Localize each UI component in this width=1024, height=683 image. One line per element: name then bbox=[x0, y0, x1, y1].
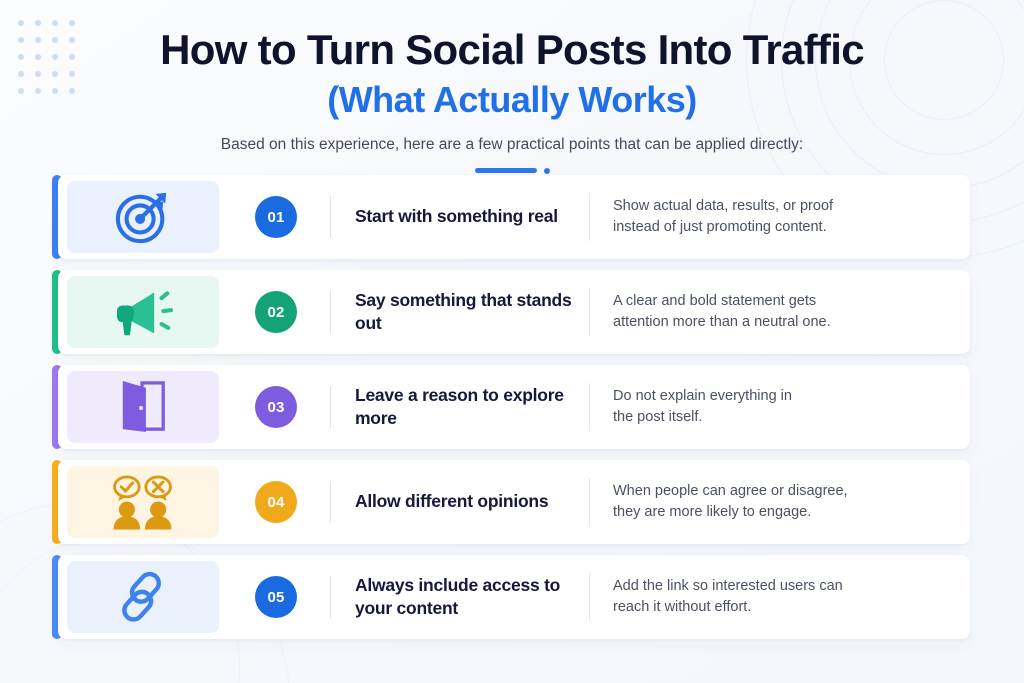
heading-divider bbox=[589, 288, 590, 336]
tip-heading-line-1: Start with bbox=[355, 206, 432, 226]
divider-bar bbox=[475, 168, 537, 173]
tip-heading-line-2: opinions bbox=[477, 491, 548, 511]
tip-description-line-2: attention more than a neutral one. bbox=[613, 312, 970, 333]
tip-description-line-2: the post itself. bbox=[613, 407, 970, 428]
icon-tile bbox=[67, 276, 219, 348]
tip-heading-line-1: Leave a reason to bbox=[355, 385, 499, 405]
tip-heading: Always include access to your content bbox=[355, 574, 583, 620]
tip-description-line-2: they are more likely to engage. bbox=[613, 502, 970, 523]
step-number: 04 bbox=[267, 494, 284, 511]
step-number: 02 bbox=[267, 304, 284, 321]
icon-tile bbox=[67, 181, 219, 253]
tips-list: 01 Start with something real Show actual… bbox=[52, 175, 970, 650]
open-door-icon bbox=[117, 379, 169, 435]
step-badge: 01 bbox=[255, 196, 297, 238]
tip-description: When people can agree or disagree, they … bbox=[613, 481, 970, 524]
page-title-line-2: (What Actually Works) bbox=[0, 81, 1024, 119]
megaphone-icon bbox=[111, 285, 175, 339]
step-number: 01 bbox=[267, 209, 284, 226]
list-item[interactable]: 01 Start with something real Show actual… bbox=[52, 175, 970, 259]
badge-divider bbox=[330, 576, 331, 618]
badge-divider bbox=[330, 481, 331, 523]
step-badge: 02 bbox=[255, 291, 297, 333]
badge-divider bbox=[330, 196, 331, 238]
icon-tile bbox=[67, 371, 219, 443]
divider-dot bbox=[544, 168, 550, 174]
tip-description: Do not explain everything in the post it… bbox=[613, 386, 970, 429]
badge-divider bbox=[330, 291, 331, 333]
tip-heading-line-1: Allow different bbox=[355, 491, 473, 511]
list-item[interactable]: 03 Leave a reason to explore more Do not… bbox=[52, 365, 970, 449]
tip-description-line-2: instead of just promoting content. bbox=[613, 217, 970, 238]
tip-card[interactable]: 01 Start with something real Show actual… bbox=[58, 175, 970, 259]
tip-description: Add the link so interested users can rea… bbox=[613, 576, 970, 619]
list-item[interactable]: 05 Always include access to your content… bbox=[52, 555, 970, 639]
link-chain-icon bbox=[115, 571, 171, 623]
badge-divider bbox=[330, 386, 331, 428]
icon-tile bbox=[67, 466, 219, 538]
page-title-line-1: How to Turn Social Posts Into Traffic bbox=[0, 28, 1024, 72]
tip-heading-line-1: Always include access bbox=[355, 575, 539, 595]
tip-description-line-1: When people can agree or disagree, bbox=[613, 481, 970, 502]
tip-card[interactable]: 04 Allow different opinions When people … bbox=[58, 460, 970, 544]
icon-tile bbox=[67, 561, 219, 633]
step-badge: 05 bbox=[255, 576, 297, 618]
step-number: 05 bbox=[267, 589, 284, 606]
tip-description-line-1: A clear and bold statement gets bbox=[613, 291, 970, 312]
tip-heading-line-2: something real bbox=[437, 206, 558, 226]
tip-description-line-1: Do not explain everything in bbox=[613, 386, 970, 407]
heading-divider bbox=[589, 193, 590, 241]
list-item[interactable]: 04 Allow different opinions When people … bbox=[52, 460, 970, 544]
tip-heading: Say something that stands out bbox=[355, 289, 583, 335]
step-badge: 04 bbox=[255, 481, 297, 523]
tip-description-line-2: reach it without effort. bbox=[613, 597, 970, 618]
step-number: 03 bbox=[267, 399, 284, 416]
header: How to Turn Social Posts Into Traffic (W… bbox=[0, 0, 1024, 174]
title-divider bbox=[0, 168, 1024, 174]
list-item[interactable]: 02 Say something that stands out A clear… bbox=[52, 270, 970, 354]
tip-description: Show actual data, results, or proof inst… bbox=[613, 196, 970, 239]
tip-description-line-1: Add the link so interested users can bbox=[613, 576, 970, 597]
tip-description: A clear and bold statement gets attentio… bbox=[613, 291, 970, 334]
infographic-page: How to Turn Social Posts Into Traffic (W… bbox=[0, 0, 1024, 683]
heading-divider bbox=[589, 573, 590, 621]
step-badge: 03 bbox=[255, 386, 297, 428]
tip-heading: Start with something real bbox=[355, 205, 583, 228]
tip-heading-line-1: Say something bbox=[355, 290, 476, 310]
heading-divider bbox=[589, 478, 590, 526]
tip-card[interactable]: 02 Say something that stands out A clear… bbox=[58, 270, 970, 354]
tip-description-line-1: Show actual data, results, or proof bbox=[613, 196, 970, 217]
target-icon bbox=[112, 189, 174, 245]
tip-heading: Allow different opinions bbox=[355, 490, 583, 513]
tip-card[interactable]: 05 Always include access to your content… bbox=[58, 555, 970, 639]
heading-divider bbox=[589, 383, 590, 431]
page-subtitle: Based on this experience, here are a few… bbox=[0, 136, 1024, 154]
two-people-opinions-icon bbox=[107, 474, 179, 530]
tip-heading: Leave a reason to explore more bbox=[355, 384, 583, 430]
tip-card[interactable]: 03 Leave a reason to explore more Do not… bbox=[58, 365, 970, 449]
